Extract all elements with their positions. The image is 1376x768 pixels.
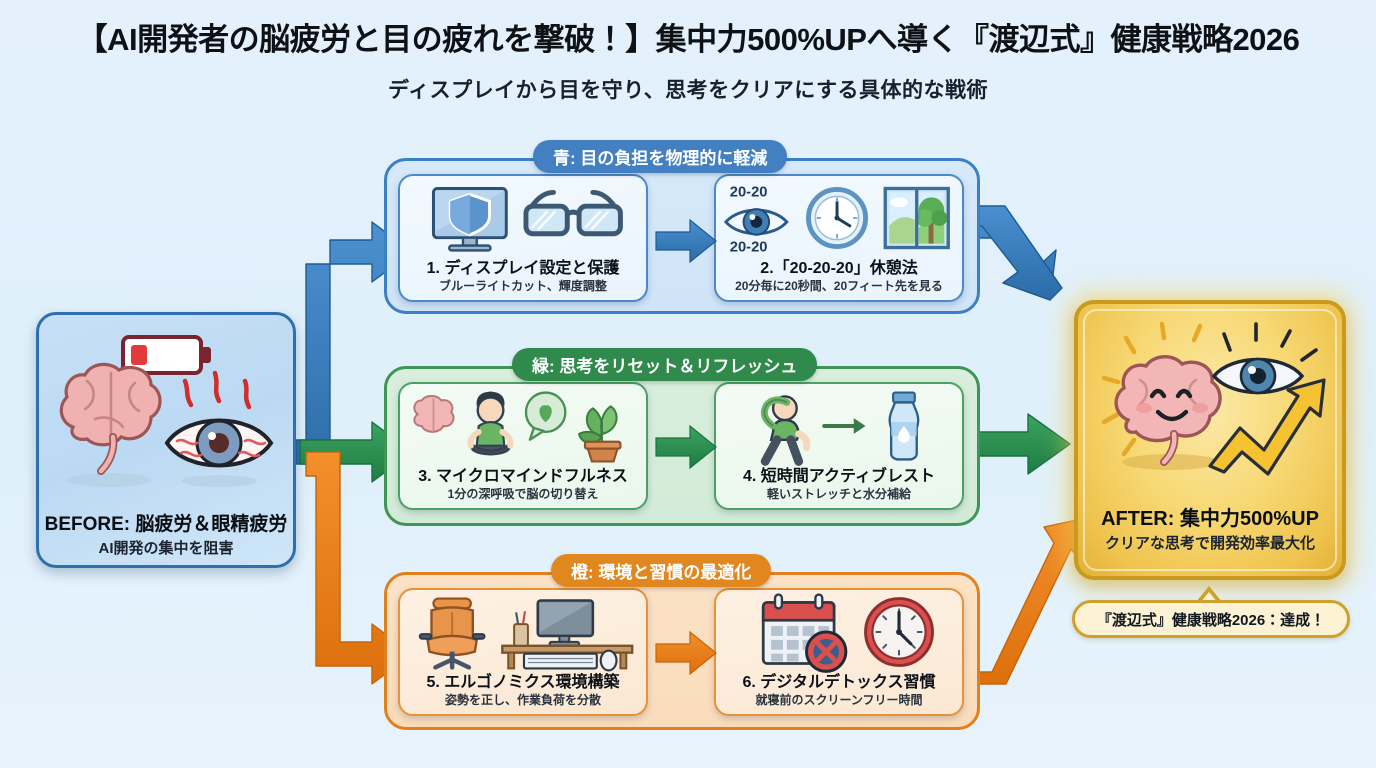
step-2-icons: 20-20 20-20 [716,180,962,256]
arrow-step3-to-step4 [654,424,718,470]
step-6-icons [716,594,962,670]
arrow-green-to-after [968,414,1070,474]
before-illustration [39,315,293,505]
brain-icon [414,396,453,432]
step-1-icons [400,180,646,256]
step-2-subtitle: 20分毎に20秒間、20フィート先を見る [716,277,962,294]
before-subtitle: AI開発の集中を阻害 [39,537,293,558]
window-tree-icon [885,188,948,247]
arrow-orange-to-after [963,518,1086,684]
water-bottle-icon [890,393,919,460]
wall-clock-icon [866,599,933,666]
arrow-step5-to-step6 [654,630,718,676]
potted-plant-icon [579,406,620,461]
achievement-caption: 『渡辺式』健康戦略2026：達成！ [1072,600,1350,638]
thought-bubble-icon [526,393,565,440]
step-5-icons [400,594,646,670]
step-card-6[interactable]: 6. デジタルデトックス習慣 就寝前のスクリーンフリー時間 [714,588,964,716]
step-card-3[interactable]: 3. マイクロマインドフルネス 1分の深呼吸で脳の切り替え [398,382,648,510]
step-4-icons [716,388,962,464]
infographic-canvas: 【AI開発者の脳疲労と目の疲れを撃破！】集中力500%UPへ導く『渡辺式』健康戦… [0,0,1376,768]
step-6-subtitle: 就寝前のスクリーンフリー時間 [716,691,962,708]
page-title: 【AI開発者の脳疲労と目の疲れを撃破！】集中力500%UPへ導く『渡辺式』健康戦… [0,14,1376,59]
smiling-brain-icon [1116,357,1220,470]
sparkle-rays-eye-icon [1224,324,1316,360]
step-2-title: 2.「20-20-20」休憩法 [716,254,962,278]
step-4-subtitle: 軽いストレッチと水分補給 [716,485,962,502]
clear-eye-icon [1214,359,1302,393]
step-5-title: 5. エルゴノミクス環境構築 [400,668,646,692]
eye-icon [726,209,787,235]
after-state-box: AFTER: 集中力500%UP クリアな思考で開発効率最大化 [1074,300,1346,580]
strained-eye-icon [167,373,271,487]
step-1-subtitle: ブルーライトカット、輝度調整 [400,277,646,294]
step-card-1[interactable]: 1. ディスプレイ設定と保護 ブルーライトカット、輝度調整 [398,174,648,302]
before-title: BEFORE: 脳疲労＆眼精疲労 [39,509,293,536]
step-card-5[interactable]: 5. エルゴノミクス環境構築 姿勢を正し、作業負荷を分散 [398,588,648,716]
step-1-title: 1. ディスプレイ設定と保護 [400,254,646,278]
group-label-orange: 橙: 環境と習慣の最適化 [551,554,771,587]
after-illustration [1078,304,1342,500]
desk-monitor-keyboard-icon [502,601,632,671]
calendar-blocked-icon [763,595,846,672]
meditating-person-icon [471,392,511,455]
after-subtitle: クリアな思考で開発効率最大化 [1078,532,1342,553]
step-5-subtitle: 姿勢を正し、作業負荷を分散 [400,691,646,708]
office-chair-icon [420,599,485,668]
group-label-green: 緑: 思考をリセット＆リフレッシュ [512,348,817,381]
monitor-shield-icon [433,188,506,250]
label-20-20-top: 20-20 [730,184,768,200]
page-subtitle: ディスプレイから目を守り、思考をクリアにする具体的な戦術 [0,74,1376,104]
step-6-title: 6. デジタルデトックス習慣 [716,668,962,692]
before-state-box: BEFORE: 脳疲労＆眼精疲労 AI開発の集中を阻害 [36,312,296,568]
step-3-icons [400,388,646,464]
step-card-2[interactable]: 20-20 20-20 [714,174,964,302]
step-4-title: 4. 短時間アクティブレスト [716,462,962,486]
after-title: AFTER: 集中力500%UP [1078,502,1342,531]
step-3-subtitle: 1分の深呼吸で脳の切り替え [400,485,646,502]
upward-trend-arrow-icon [1210,380,1324,474]
stretching-person-icon [764,396,807,461]
blue-light-glasses-icon [526,192,620,233]
arrow-step1-to-step2 [654,218,718,264]
right-arrow-icon [824,418,865,434]
group-label-blue: 青: 目の負担を物理的に軽減 [533,140,787,173]
clock-icon [808,189,865,246]
step-3-title: 3. マイクロマインドフルネス [400,462,646,486]
brain-icon [61,364,160,487]
step-card-4[interactable]: 4. 短時間アクティブレスト 軽いストレッチと水分補給 [714,382,964,510]
